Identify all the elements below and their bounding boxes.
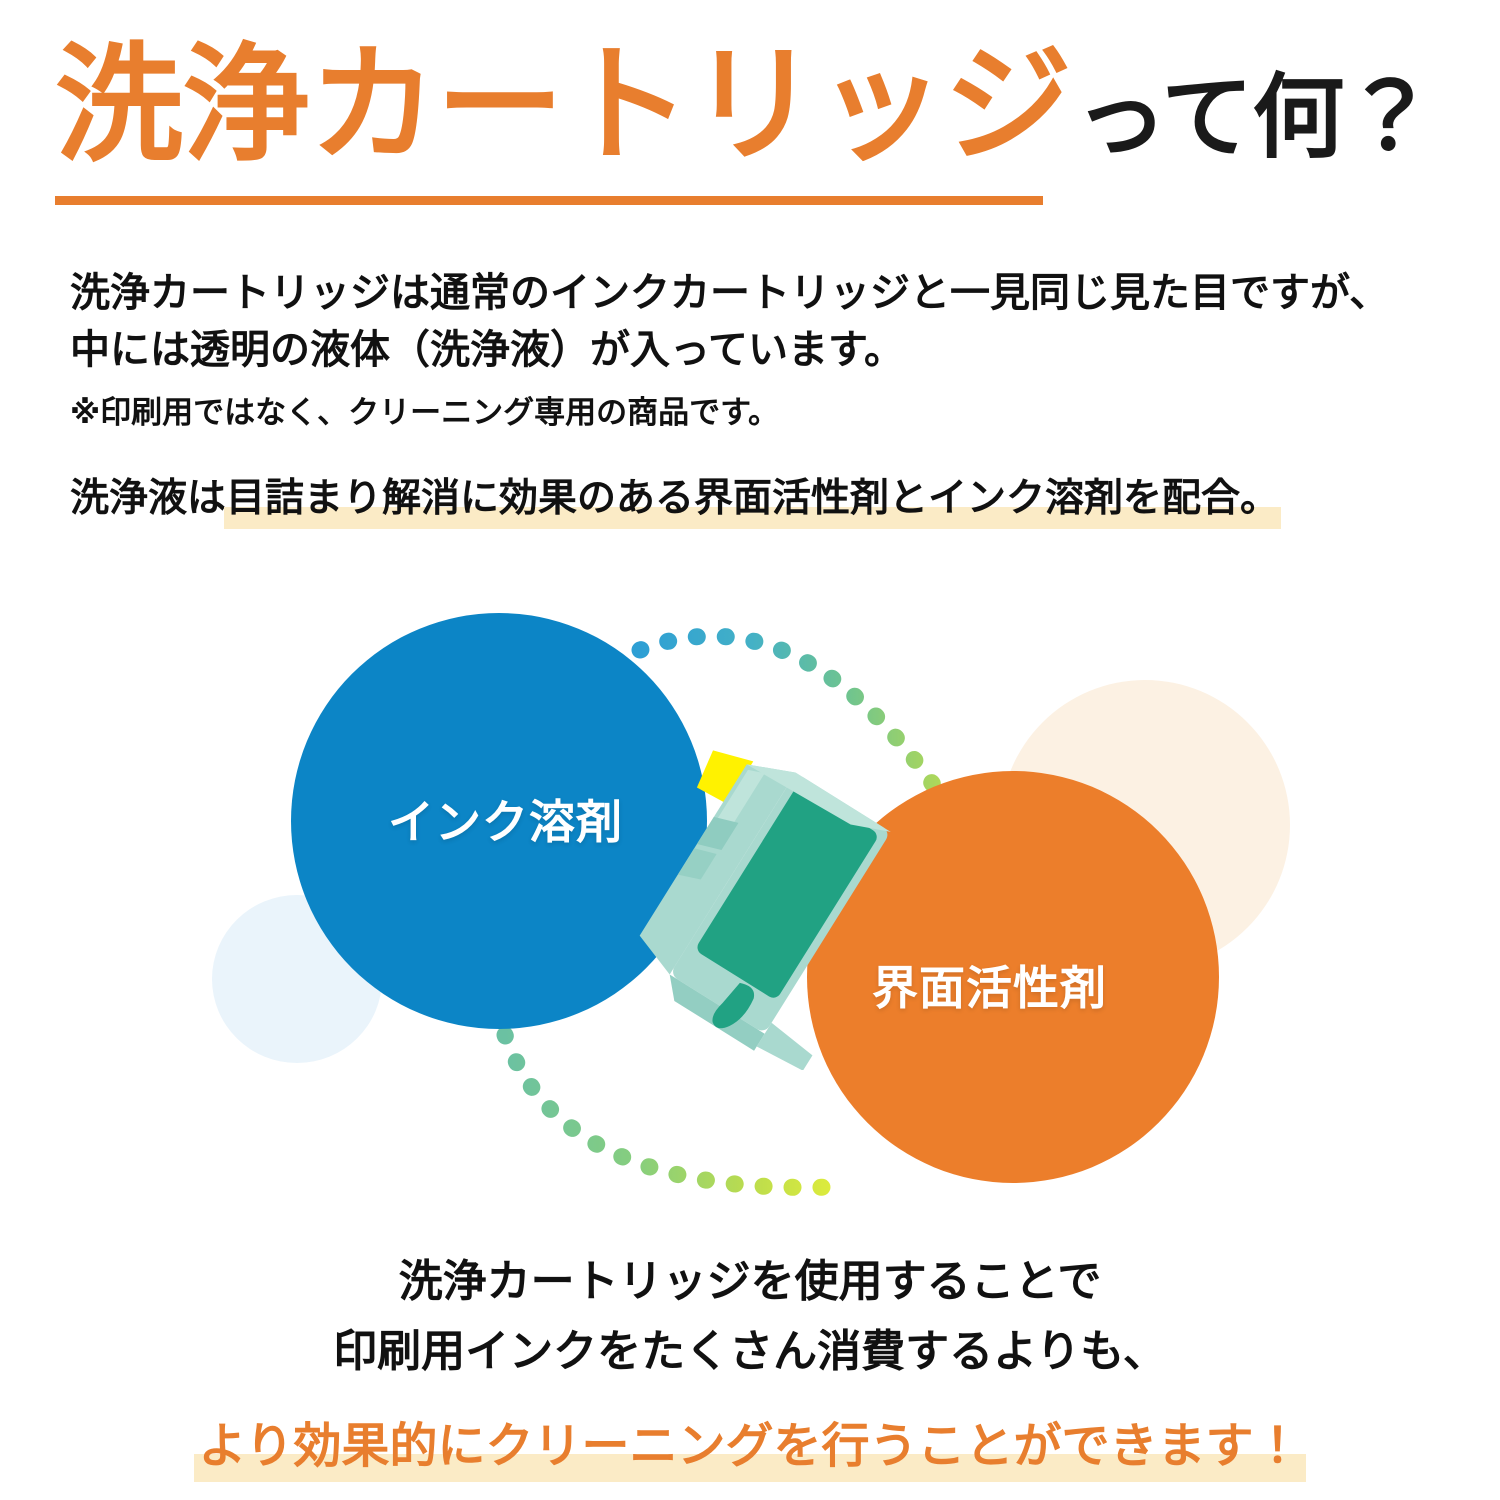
mix-paragraph: 洗浄液は目詰まり解消に効果のある界面活性剤とインク溶剤を配合。 (70, 474, 1279, 525)
footer-accent-line: より効果的にクリーニングを行うことができます！ (198, 1406, 1301, 1476)
page-title-suffix: って何？ (1075, 72, 1434, 164)
ink-solvent-label: インク溶剤 (388, 786, 623, 852)
ink-cartridge-illustration (620, 740, 950, 1070)
lead-paragraph-line-2: 中には透明の液体（洗浄液）が入っています。 (70, 322, 1450, 379)
lead-paragraph-line-1: 洗浄カートリッジは通常のインクカートリッジと一見同じ見た目ですが、 (70, 265, 1450, 322)
footer-text-block: 洗浄カートリッジを使用することで 印刷用インクをたくさん消費するよりも、 より効… (0, 1250, 1500, 1476)
body-text-block: 洗浄カートリッジは通常のインクカートリッジと一見同じ見た目ですが、 中には透明の… (70, 265, 1450, 525)
mix-paragraph-highlight: 目詰まり解消に効果のある界面活性剤とインク溶剤を配合。 (226, 474, 1279, 525)
infographic-page: 洗浄カートリッジって何？ 洗浄カートリッジは通常のインクカートリッジと一見同じ見… (0, 0, 1500, 1500)
footer-line-2: 印刷用インクをたくさん消費するよりも、 (0, 1320, 1500, 1384)
mix-paragraph-prefix: 洗浄液は (70, 477, 226, 520)
footer-line-1: 洗浄カートリッジを使用することで (0, 1250, 1500, 1314)
footer-accent-wrap: より効果的にクリーニングを行うことができます！ (0, 1406, 1500, 1476)
page-title: 洗浄カートリッジって何？ (55, 42, 1455, 212)
cartridge-side-tab (757, 1023, 816, 1070)
note-paragraph: ※印刷用ではなく、クリーニング専用の商品です。 (70, 391, 1450, 434)
title-underline-rule (55, 196, 1043, 205)
page-title-main: 洗浄カートリッジ (55, 42, 1071, 170)
surfactant-label: 界面活性剤 (872, 952, 1107, 1018)
